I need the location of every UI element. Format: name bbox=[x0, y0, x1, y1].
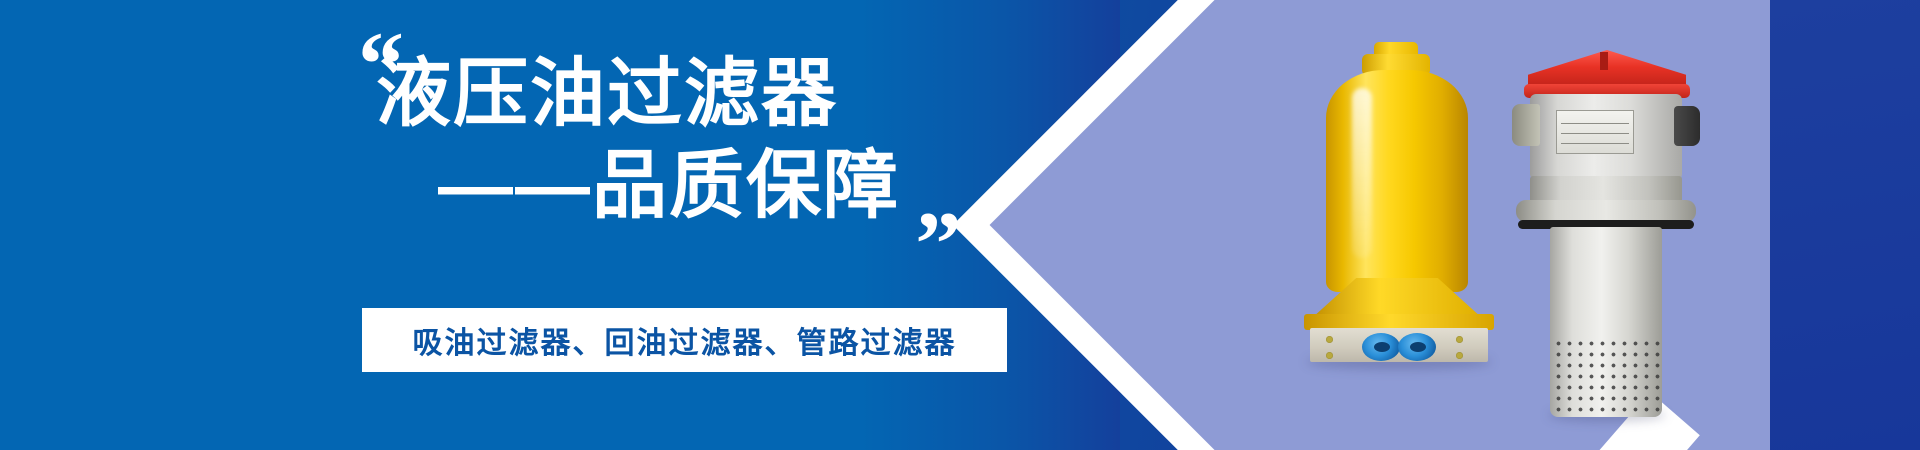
yellow-filter-bolt bbox=[1326, 336, 1333, 343]
banner-text-block: “ 液压油过滤器 ——品质保障 „ 吸油过滤器、回油过滤器、管路过滤器 bbox=[0, 0, 1060, 450]
return-filter-right-port bbox=[1674, 106, 1700, 146]
return-filter-left-port bbox=[1512, 104, 1540, 146]
return-filter-perforations bbox=[1550, 335, 1662, 417]
return-filter-cap-notch bbox=[1600, 52, 1608, 70]
yellow-filter-bolt bbox=[1456, 352, 1463, 359]
yellow-filter-bolt bbox=[1456, 336, 1463, 343]
return-filter-strainer-tube bbox=[1550, 227, 1662, 417]
yellow-filter-port-right bbox=[1398, 333, 1436, 361]
yellow-filter-port-left bbox=[1362, 333, 1400, 361]
quote-close-icon: „ bbox=[916, 150, 958, 242]
product-yellow-inline-filter bbox=[1300, 42, 1505, 342]
page-title: 液压油过滤器 ——品质保障 bbox=[0, 48, 1016, 231]
promo-banner: “ 液压油过滤器 ——品质保障 „ 吸油过滤器、回油过滤器、管路过滤器 bbox=[0, 0, 1920, 450]
product-return-line-filter bbox=[1508, 50, 1708, 422]
yellow-filter-bolt bbox=[1326, 352, 1333, 359]
return-filter-nameplate bbox=[1556, 110, 1634, 154]
right-edge-blue-fill bbox=[1770, 0, 1920, 450]
headline-line-1: 液压油过滤器 bbox=[0, 48, 1016, 140]
return-filter-mount-flange bbox=[1516, 200, 1696, 222]
yellow-filter-highlight bbox=[1352, 88, 1372, 258]
subtitle-box: 吸油过滤器、回油过滤器、管路过滤器 bbox=[362, 308, 1007, 372]
headline-line-2: ——品质保障 bbox=[0, 140, 1016, 232]
subtitle-text: 吸油过滤器、回油过滤器、管路过滤器 bbox=[413, 318, 957, 362]
yellow-filter-body bbox=[1326, 70, 1468, 292]
